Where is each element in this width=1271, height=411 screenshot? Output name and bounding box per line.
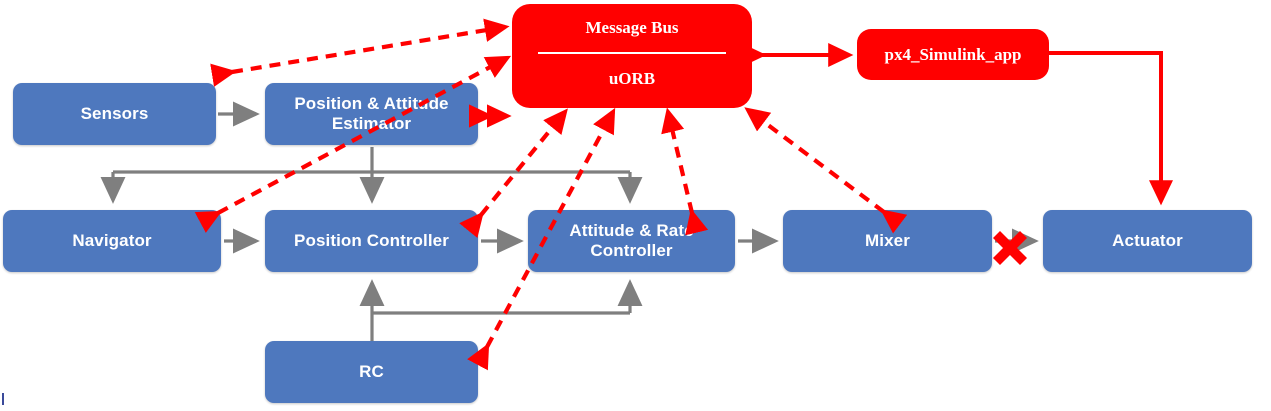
blocked-x-icon <box>993 231 1027 265</box>
edge-sensors-bus-link <box>232 27 505 72</box>
edge-simulink-to-actuator-override <box>1049 53 1161 201</box>
red-edge-layer <box>0 0 1271 411</box>
edge-bus-attitude-controller-link <box>668 112 692 213</box>
edge-bus-mixer-link <box>748 110 884 212</box>
edge-bus-rc-link <box>487 112 613 347</box>
diagram-canvas: Sensors Position & Attitude Estimator Na… <box>0 0 1271 411</box>
edge-estimator-bus-long-link <box>218 58 507 213</box>
edge-bus-position-controller-link <box>481 112 565 215</box>
